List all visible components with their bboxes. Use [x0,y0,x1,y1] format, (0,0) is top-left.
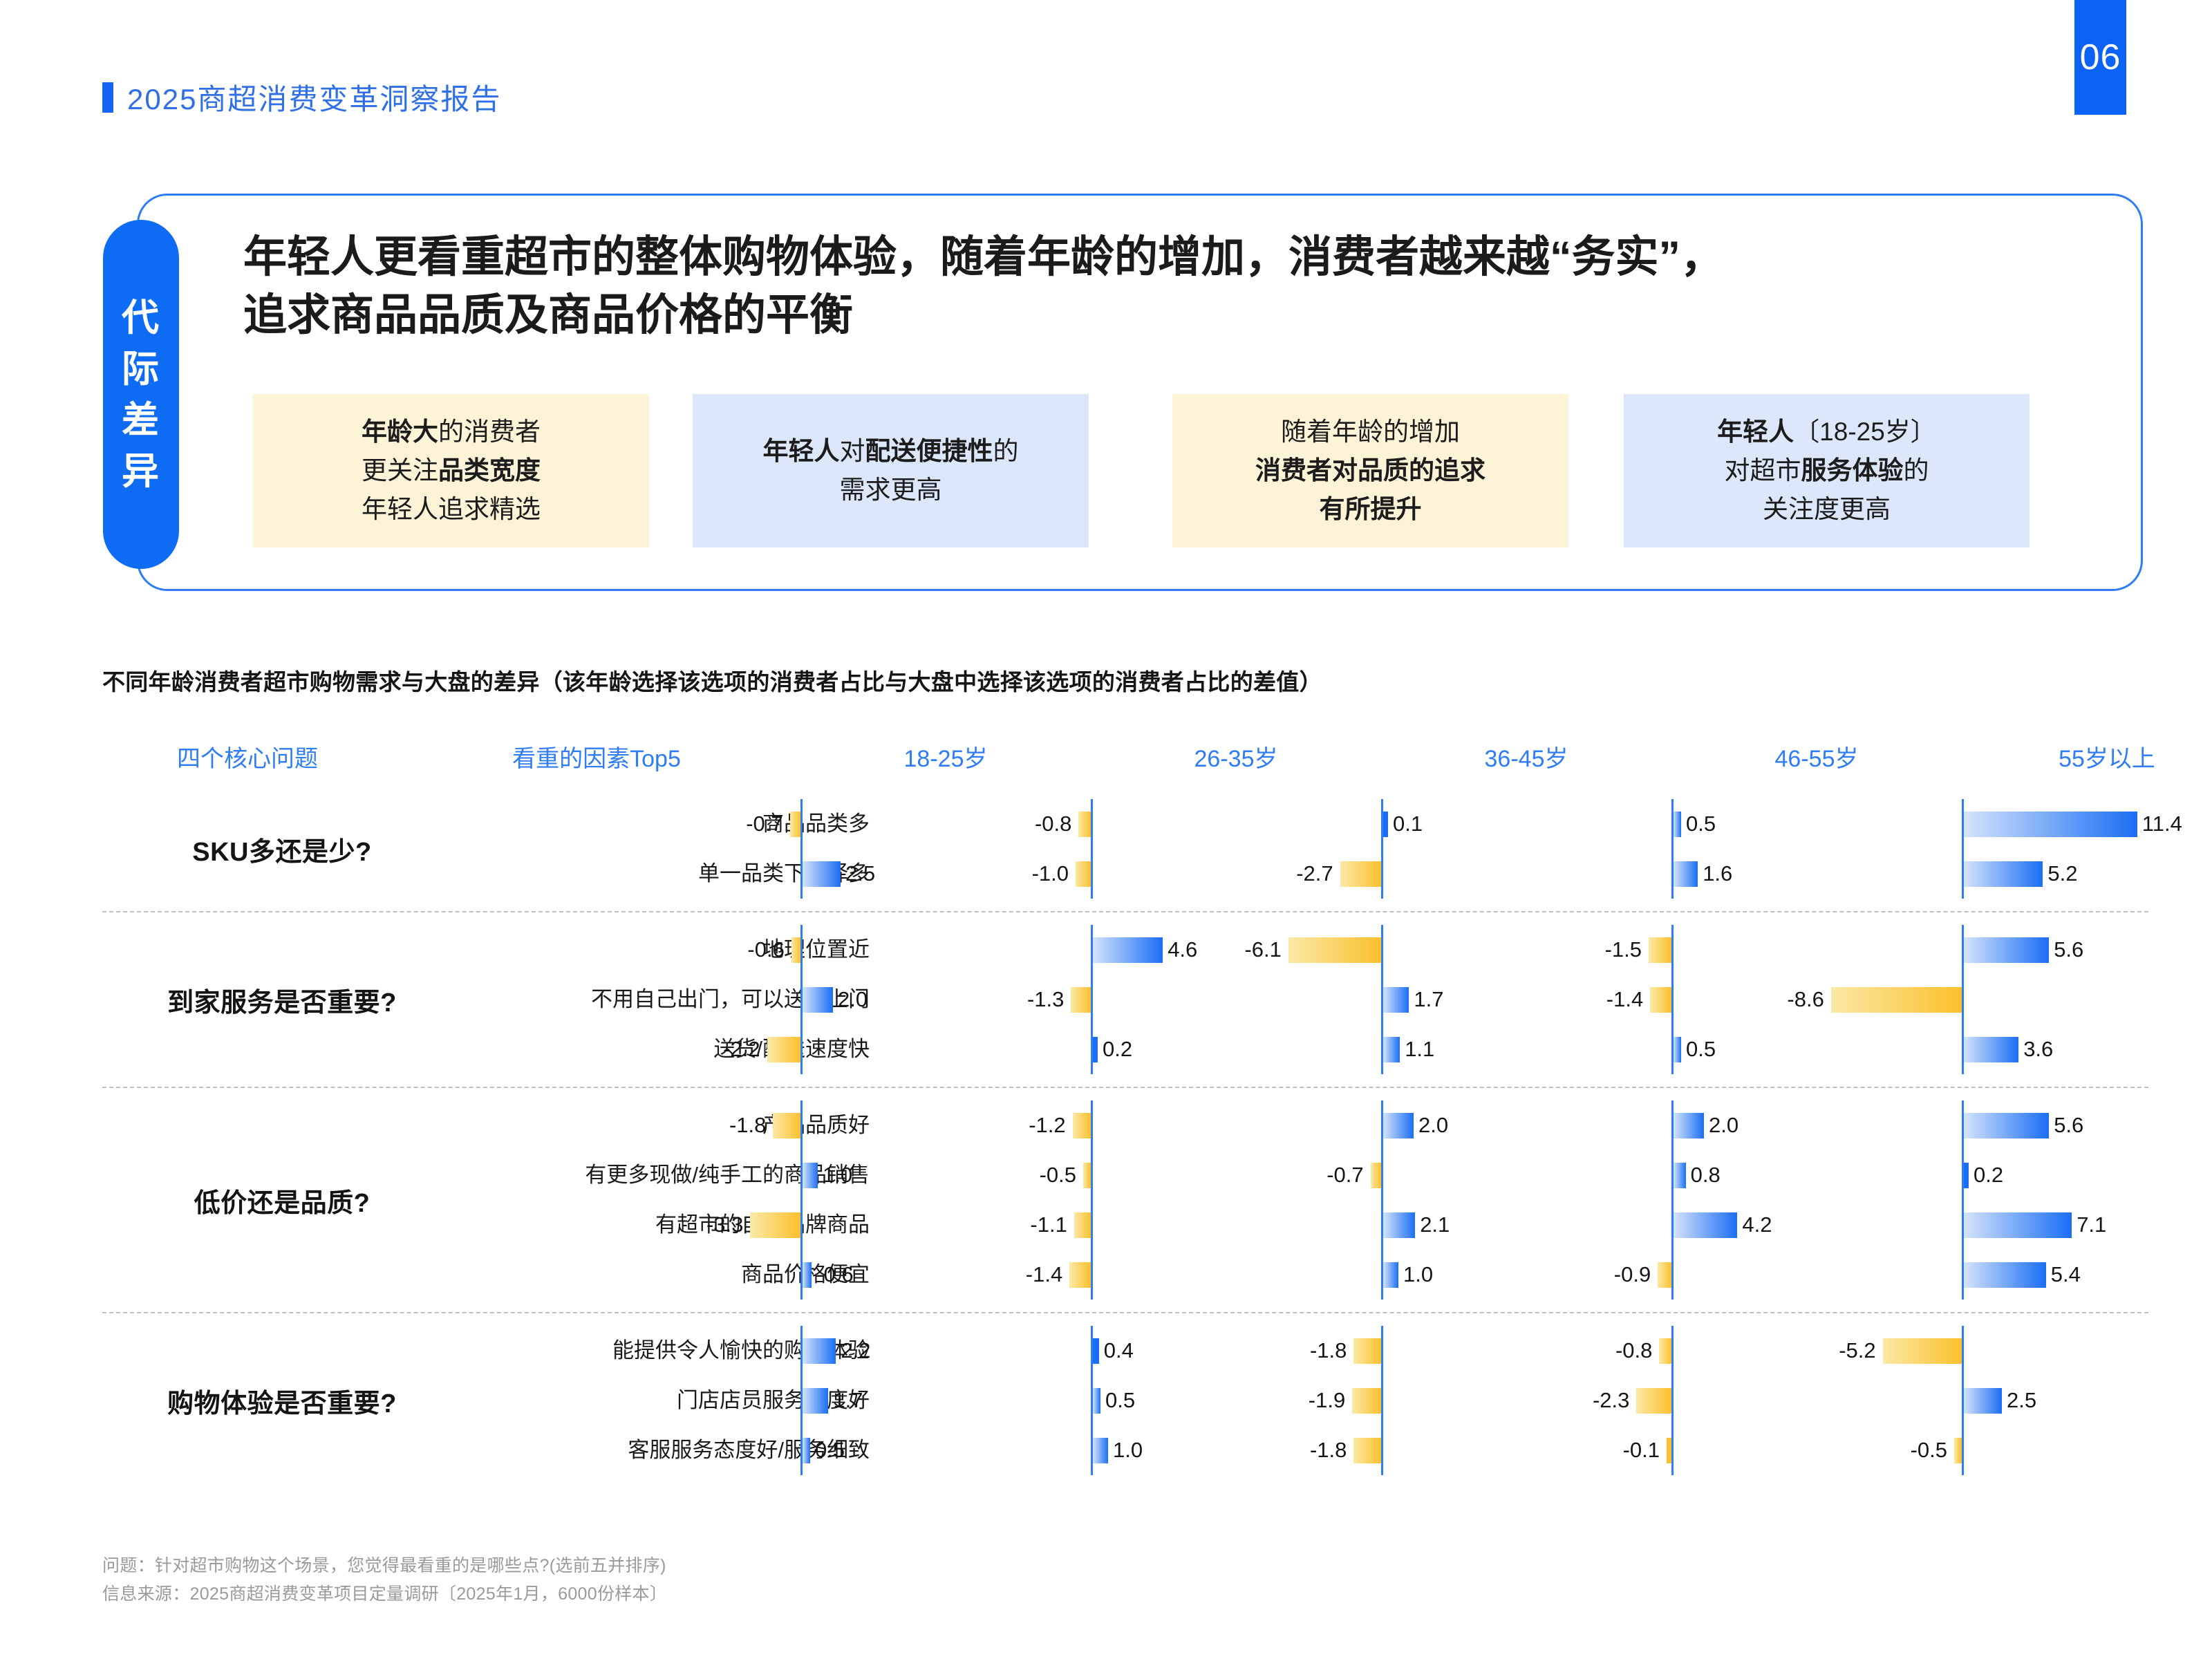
bar-value-label: 3.6 [2023,1024,2053,1074]
bar-value-label: 2.1 [1420,1200,1450,1250]
bar-value-label: 0.4 [1104,1326,1134,1376]
bar-value-label: -5.2 [1807,1326,1876,1376]
bar-value-label: 11.4 [2142,799,2182,849]
column-header-2: 看重的因素Top5 [393,740,800,774]
section-label-char-1: 际 [122,350,160,388]
section-label-char-3: 异 [122,453,160,490]
value-cell: 0.8 [1671,1150,1962,1200]
bar-value-label: -0.6 [816,1250,853,1300]
chart-row: 送货/配送速度快-2.20.21.10.53.6 [462,1024,2148,1074]
bar-negative [1073,1113,1091,1138]
footnote-source: 信息来源：2025商超消费变革项目定量调研〔2025年1月，6000份样本〕 [102,1580,667,1609]
value-cell: 2.0 [1671,1100,1962,1150]
footnote-question: 问题：针对超市购物这个场景，您觉得最看重的是哪些点?(选前五并排序) [102,1552,667,1580]
highlight-box-3-line-3: 有所提升 [1320,490,1422,529]
value-cell: -0.7 [1381,1150,1671,1200]
highlight-box-2: 年轻人对配送便捷性的需求更高 [693,394,1089,547]
bar-positive [1964,861,2043,887]
bar-value-label: -1.3 [995,975,1064,1024]
bar-value-label: 2.2 [841,1326,870,1376]
value-cell: -1.1 [1091,1200,1381,1250]
bar-negative [1650,987,1671,1013]
bar-value-label: 5.6 [2054,925,2083,975]
bar-positive [1964,812,2137,837]
bar-value-label: 0.8 [1691,1150,1721,1200]
zero-axis-line [1671,1250,1674,1300]
bar-value-label: 0.5 [1686,1024,1716,1074]
section-label-char-0: 代 [122,299,160,337]
bar-negative [1353,1438,1381,1463]
bar-value-label: -2.3 [1560,1376,1629,1425]
value-cell: 0.5 [800,1425,1091,1475]
chart-row: 客服服务态度好/服务细致0.51.0-1.8-0.1-0.5 [462,1425,2148,1475]
value-cell: 2.2 [800,1326,1091,1376]
column-header-3: 18-25岁 [800,740,1091,774]
bar-positive [1383,1037,1400,1062]
value-cell: -2.2 [800,1024,1091,1074]
bar-negative [1071,987,1091,1013]
zero-axis-line [800,1200,803,1250]
bar-value-label: -1.8 [1277,1326,1347,1376]
group-rows: 能提供令人愉快的购物体验2.20.4-1.8-0.8-5.2门店店员服务态度好1… [462,1326,2148,1475]
zero-axis-line [800,799,803,849]
highlight-box-4: 年轻人〔18-25岁〕对超市服务体验的关注度更高 [1624,394,2030,547]
zero-axis-line [800,1024,803,1074]
headline-line-1: 年轻人更看重超市的整体购物体验，随着年龄的增加，消费者越来越“务实”， [243,228,2013,286]
page-number-badge: 06 [2074,0,2126,115]
bar-value-label: -0.5 [1878,1425,1947,1475]
bar-value-label: 0.5 [815,1425,845,1475]
bar-value-label: 1.7 [833,1376,863,1425]
value-cell: -0.9 [1671,1250,1962,1300]
chart-group-2: 到家服务是否重要?地理位置近-0.64.6-6.1-1.55.6不用自己出门，可… [102,911,2148,1087]
zero-axis-line [1091,1150,1093,1200]
bar-value-label: 1.1 [1405,1024,1434,1074]
bar-value-label: -8.6 [1755,975,1824,1024]
zero-axis-line [1962,1326,1964,1376]
value-cell: 5.6 [1962,925,2212,975]
bar-negative [1069,1262,1091,1288]
group-question: SKU多还是少? [102,830,462,868]
bar-positive [1964,1262,2046,1288]
value-cell: -0.6 [800,925,1091,975]
bar-positive [803,1438,810,1463]
zero-axis-line [1091,1100,1093,1150]
bar-negative [1340,861,1381,887]
value-cell: 5.2 [1962,849,2212,899]
bar-value-label: 0.2 [1103,1024,1132,1074]
chart-caption: 不同年龄消费者超市购物需求与大盘的差异（该年龄选择该选项的消费者占比与大盘中选择… [102,664,1322,697]
column-header-row: 四个核心问题看重的因素Top518-25岁26-35岁36-45岁46-55岁5… [102,740,2148,787]
bar-positive [1964,1212,2072,1238]
highlight-box-3-line-2: 消费者对品质的追求 [1255,451,1485,490]
bar-value-label: 2.5 [845,849,875,899]
bar-value-label: -6.1 [1212,925,1282,975]
chart-row: 门店店员服务态度好1.70.5-1.9-2.32.5 [462,1376,2148,1425]
zero-axis-line [1962,975,1964,1024]
report-title: 2025商超消费变革洞察报告 [127,76,501,118]
highlight-box-row: 年龄大的消费者更关注品类宽度年轻人追求精选年轻人对配送便捷性的需求更高随着年龄的… [253,394,2030,547]
bar-value-label: -2.2 [691,1024,760,1074]
bar-value-label: 0.2 [1974,1150,2003,1200]
value-cell: 5.6 [1962,1100,2212,1150]
bar-positive [1674,1113,1704,1138]
bar-value-label: 1.6 [1703,849,1732,899]
chart-row: 产品品质好-1.8-1.22.02.05.6 [462,1100,2148,1150]
bar-value-label: 2.5 [2007,1376,2036,1425]
bar-negative [1288,937,1381,963]
bar-positive [1964,1163,1969,1188]
bar-value-label: -1.5 [1573,925,1642,975]
bar-value-label: -0.8 [1583,1326,1652,1376]
bar-positive [803,1262,812,1288]
chart-row: 能提供令人愉快的购物体验2.20.4-1.8-0.8-5.2 [462,1326,2148,1376]
group-rows: 地理位置近-0.64.6-6.1-1.55.6不用自己出门，可以送货上门2.0-… [462,925,2148,1074]
value-cell: -1.0 [1091,849,1381,899]
chart-row: 商品价格便宜-0.6-1.41.0-0.95.4 [462,1250,2148,1300]
zero-axis-line [1381,849,1383,899]
bar-value-label: -0.7 [1295,1150,1364,1200]
value-cell: 11.4 [1962,799,2212,849]
column-header-7: 55岁以上 [1962,740,2212,774]
value-cell: -0.5 [1962,1425,2212,1475]
group-rows: 商品品类多-0.7-0.80.10.511.4单一品类下选择多2.5-1.0-2… [462,799,2148,899]
value-cell: -2.7 [1381,849,1671,899]
bar-positive [1674,1163,1686,1188]
value-cell: -1.4 [1091,1250,1381,1300]
age-difference-chart: 四个核心问题看重的因素Top518-25岁26-35岁36-45岁46-55岁5… [102,740,2148,1488]
section-label-char-2: 差 [122,402,160,439]
chart-row: 商品品类多-0.7-0.80.10.511.4 [462,799,2148,849]
value-cell: -2.3 [1671,1376,1962,1425]
group-question: 低价还是品质? [102,1181,462,1219]
highlight-box-4-line-2: 对超市服务体验的 [1725,451,1929,490]
bar-value-label: -1.8 [697,1100,766,1150]
bar-negative [750,1212,800,1238]
zero-axis-line [1381,925,1383,975]
value-cell: 2.5 [1962,1376,2212,1425]
zero-axis-line [1091,799,1093,849]
bar-negative [1649,937,1671,963]
highlight-box-1-line-2: 更关注品类宽度 [362,451,541,490]
bar-positive [803,1163,818,1188]
value-cell: -0.8 [1091,799,1381,849]
zero-axis-line [1381,1150,1383,1200]
highlight-box-4-line-3: 关注度更高 [1763,490,1891,529]
highlight-box-3: 随着年龄的增加消费者对品质的追求有所提升 [1172,394,1568,547]
zero-axis-line [1671,925,1674,975]
bar-value-label: -1.1 [998,1200,1067,1250]
bar-value-label: -0.7 [714,799,783,849]
bar-value-label: -0.9 [1582,1250,1651,1300]
bar-value-label: 2.0 [1709,1100,1738,1150]
highlight-box-2-line-1: 年轻人对配送便捷性的 [763,432,1019,471]
bar-positive [1383,812,1388,837]
column-header-6: 46-55岁 [1671,740,1962,774]
bar-value-label: -0.5 [1007,1150,1076,1200]
chart-row: 有超市的自有品牌商品-3.3-1.12.14.27.1 [462,1200,2148,1250]
bar-value-label: -1.0 [1000,849,1069,899]
bar-value-label: 5.6 [2054,1100,2083,1150]
group-question: 到家服务是否重要? [102,981,462,1019]
section-label-pill: 代际差异 [103,220,179,569]
value-cell: -1.5 [1671,925,1962,975]
hero-headline: 年轻人更看重超市的整体购物体验，随着年龄的增加，消费者越来越“务实”， 追求商品… [243,228,2013,345]
value-cell: -1.2 [1091,1100,1381,1150]
chart-group-1: SKU多还是少?商品品类多-0.7-0.80.10.511.4单一品类下选择多2… [102,787,2148,911]
value-cell: 1.1 [1381,1024,1671,1074]
bar-positive [1964,1388,2002,1414]
zero-axis-line [1091,1200,1093,1250]
bar-positive [1964,937,2049,963]
highlight-box-4-line-1: 年轻人〔18-25岁〕 [1717,413,1936,451]
bar-negative [1636,1388,1671,1414]
bar-positive [1093,1037,1098,1062]
bar-value-label: 2.0 [1418,1100,1448,1150]
highlight-box-3-line-1: 随着年龄的增加 [1281,413,1460,451]
chart-group-3: 低价还是品质?产品品质好-1.8-1.22.02.05.6有更多现做/纯手工的商… [102,1087,2148,1312]
value-cell: 0.2 [1091,1024,1381,1074]
bar-positive [1674,812,1681,837]
zero-axis-line [1671,1326,1674,1376]
value-cell: 4.2 [1671,1200,1962,1250]
header-accent-bar-icon [102,82,113,113]
bar-positive [803,1388,828,1414]
highlight-box-1: 年龄大的消费者更关注品类宽度年轻人追求精选 [253,394,649,547]
zero-axis-line [1091,1250,1093,1300]
bar-value-label: -3.3 [674,1200,743,1250]
bar-negative [1954,1438,1962,1463]
bar-positive [1383,1262,1398,1288]
bar-positive [1964,1037,2018,1062]
value-cell: 7.1 [1962,1200,2212,1250]
chart-group-4: 购物体验是否重要?能提供令人愉快的购物体验2.20.4-1.8-0.8-5.2门… [102,1312,2148,1488]
chart-groups: SKU多还是少?商品品类多-0.7-0.80.10.511.4单一品类下选择多2… [102,787,2148,1488]
bar-negative [1078,812,1091,837]
headline-line-2: 追求商品品质及商品价格的平衡 [243,286,2013,344]
bar-negative [773,1113,800,1138]
column-header-1: 四个核心问题 [102,740,393,774]
bar-negative [1371,1163,1381,1188]
bar-positive [1383,987,1409,1013]
value-cell: 0.2 [1962,1150,2212,1200]
bar-value-label: 0.5 [1686,799,1716,849]
bar-value-label: -2.7 [1264,849,1333,899]
bar-negative [767,1037,800,1062]
column-header-4: 26-35岁 [1091,740,1381,774]
bar-value-label: 1.0 [1403,1250,1433,1300]
zero-axis-line [800,925,803,975]
bar-value-label: 1.0 [823,1150,852,1200]
bar-value-label: -0.8 [1002,799,1071,849]
page-number-text: 06 [2080,37,2121,78]
bar-value-label: -1.8 [1277,1425,1347,1475]
value-cell: 1.6 [1671,849,1962,899]
bar-negative [1883,1338,1962,1364]
footnotes: 问题：针对超市购物这个场景，您觉得最看重的是哪些点?(选前五并排序) 信息来源：… [102,1552,667,1608]
zero-axis-line [1671,975,1674,1024]
value-cell: -1.3 [1091,975,1381,1024]
zero-axis-line [1091,975,1093,1024]
bar-positive [803,861,841,887]
column-header-5: 36-45岁 [1381,740,1671,774]
zero-axis-line [1381,1425,1383,1475]
bar-positive [1674,1037,1681,1062]
bar-negative [1083,1163,1091,1188]
zero-axis-line [1091,849,1093,899]
value-cell: 0.1 [1381,799,1671,849]
bar-value-label: -1.4 [1574,975,1643,1024]
bar-positive [1093,937,1163,963]
bar-positive [1674,861,1698,887]
bar-value-label: 0.1 [1393,799,1423,849]
bar-value-label: -0.6 [715,925,785,975]
value-cell: 3.6 [1962,1024,2212,1074]
bar-negative [791,937,800,963]
zero-axis-line [800,1100,803,1150]
value-cell: 2.1 [1381,1200,1671,1250]
value-cell: -5.2 [1962,1326,2212,1376]
bar-value-label: -0.1 [1591,1425,1660,1475]
chart-row: 单一品类下选择多2.5-1.0-2.71.65.2 [462,849,2148,899]
chart-row: 不用自己出门，可以送货上门2.0-1.31.7-1.4-8.6 [462,975,2148,1024]
bar-positive [1383,1113,1414,1138]
bar-value-label: 1.0 [1113,1425,1143,1475]
bar-positive [1093,1438,1108,1463]
bar-value-label: -1.2 [997,1100,1066,1150]
chart-row: 有更多现做/纯手工的商品销售1.0-0.5-0.70.80.2 [462,1150,2148,1200]
bar-negative [1076,861,1091,887]
bar-positive [1964,1113,2049,1138]
value-cell: 2.0 [1381,1100,1671,1150]
bar-negative [1658,1262,1671,1288]
value-cell: 5.4 [1962,1250,2212,1300]
bar-value-label: -1.9 [1276,1376,1345,1425]
bar-value-label: 0.5 [1105,1376,1135,1425]
highlight-box-1-line-1: 年龄大的消费者 [362,413,541,451]
bar-value-label: 7.1 [2077,1200,2106,1250]
bar-negative [1352,1388,1381,1414]
bar-value-label: -1.4 [993,1250,1062,1300]
value-cell: 0.5 [1671,1024,1962,1074]
bar-value-label: 1.7 [1414,975,1443,1024]
bar-positive [803,987,833,1013]
bar-negative [790,812,800,837]
bar-positive [1093,1388,1100,1414]
bar-value-label: 4.2 [1742,1200,1772,1250]
bar-negative [1074,1212,1091,1238]
bar-negative [1353,1338,1381,1364]
bar-value-label: 2.0 [838,975,868,1024]
zero-axis-line [1671,1376,1674,1425]
bar-negative [1667,1438,1671,1463]
bar-value-label: 5.2 [2047,849,2077,899]
document-header: 2025商超消费变革洞察报告 [102,76,501,118]
zero-axis-line [1962,1425,1964,1475]
value-cell: -8.6 [1962,975,2212,1024]
group-rows: 产品品质好-1.8-1.22.02.05.6有更多现做/纯手工的商品销售1.0-… [462,1100,2148,1300]
bar-value-label: 4.6 [1168,925,1197,975]
bar-negative [1831,987,1962,1013]
bar-positive [1383,1212,1415,1238]
zero-axis-line [1381,1376,1383,1425]
value-cell: 1.7 [800,1376,1091,1425]
zero-axis-line [1671,1425,1674,1475]
highlight-box-1-line-3: 年轻人追求精选 [362,490,541,529]
highlight-box-2-line-2: 需求更高 [840,471,942,509]
zero-axis-line [1381,1326,1383,1376]
bar-negative [1659,1338,1671,1364]
bar-positive [803,1338,836,1364]
value-cell: 0.5 [1671,799,1962,849]
bar-positive [1674,1212,1737,1238]
chart-row: 地理位置近-0.64.6-6.1-1.55.6 [462,925,2148,975]
group-question: 购物体验是否重要? [102,1382,462,1420]
bar-value-label: 5.4 [2051,1250,2081,1300]
bar-positive [1093,1338,1099,1364]
